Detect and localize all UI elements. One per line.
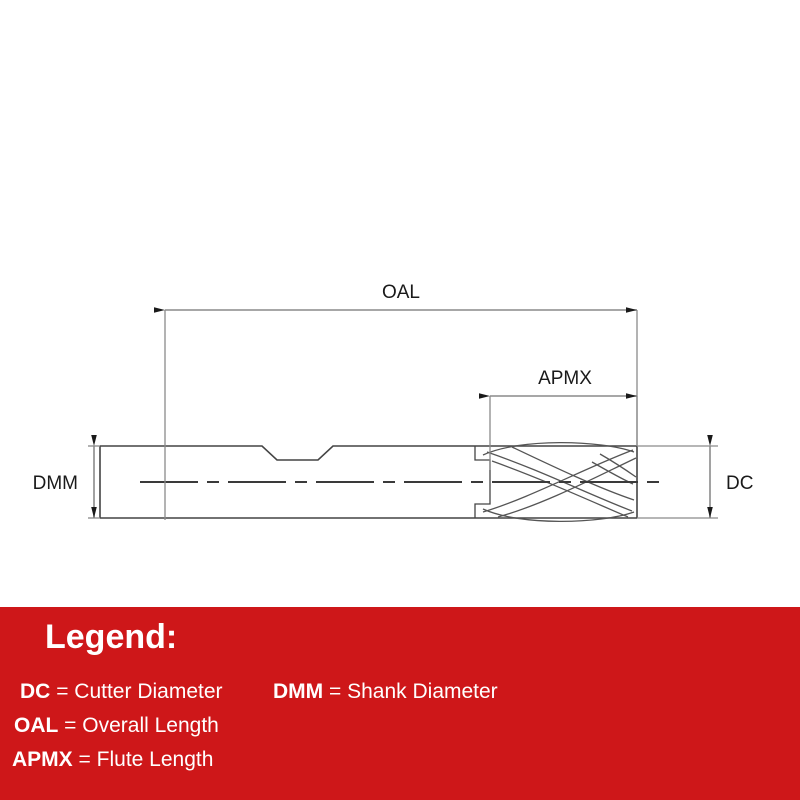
legend-equals: = xyxy=(56,680,68,703)
legend-row: APMX = Flute Length xyxy=(0,743,800,777)
legend-equals: = xyxy=(79,748,91,771)
dimension-dmm: DMM xyxy=(33,446,100,518)
legend-entry-dmm: DMM = Shank Diameter xyxy=(273,675,498,709)
legend-row: DC = Cutter Diameter DMM = Shank Diamete… xyxy=(0,675,800,709)
legend-abbr-oal: OAL xyxy=(14,714,58,737)
legend-title: Legend: xyxy=(45,617,177,657)
legend-banner: Legend: DC = Cutter Diameter DMM = Shank… xyxy=(0,607,800,800)
legend-entry-oal: OAL = Overall Length xyxy=(14,709,219,743)
legend-abbr-apmx: APMX xyxy=(12,748,73,771)
legend-desc-apmx: Flute Length xyxy=(97,748,214,771)
legend-abbr-dmm: DMM xyxy=(273,680,323,703)
technical-drawing-area: OAL APMX DMM DC xyxy=(0,0,800,607)
legend-row: OAL = Overall Length xyxy=(0,709,800,743)
legend-entry-list: DC = Cutter Diameter DMM = Shank Diamete… xyxy=(0,675,800,777)
dimension-label-oal: OAL xyxy=(382,282,420,303)
legend-desc-dmm: Shank Diameter xyxy=(347,680,498,703)
dimension-apmx: APMX xyxy=(490,368,637,470)
dimension-label-dmm: DMM xyxy=(33,473,78,494)
dimension-label-dc: DC xyxy=(726,473,753,494)
dimension-label-apmx: APMX xyxy=(538,368,592,389)
legend-desc-oal: Overall Length xyxy=(82,714,219,737)
legend-equals: = xyxy=(329,680,341,703)
legend-abbr-dc: DC xyxy=(20,680,50,703)
legend-desc-dc: Cutter Diameter xyxy=(74,680,222,703)
page-root: OAL APMX DMM DC xyxy=(0,0,800,800)
legend-equals: = xyxy=(64,714,76,737)
legend-entry-dc: DC = Cutter Diameter xyxy=(20,675,223,709)
dimension-oal: OAL xyxy=(165,282,637,520)
end-mill-drawing-svg: OAL APMX DMM DC xyxy=(0,0,800,607)
legend-entry-apmx: APMX = Flute Length xyxy=(12,743,213,777)
